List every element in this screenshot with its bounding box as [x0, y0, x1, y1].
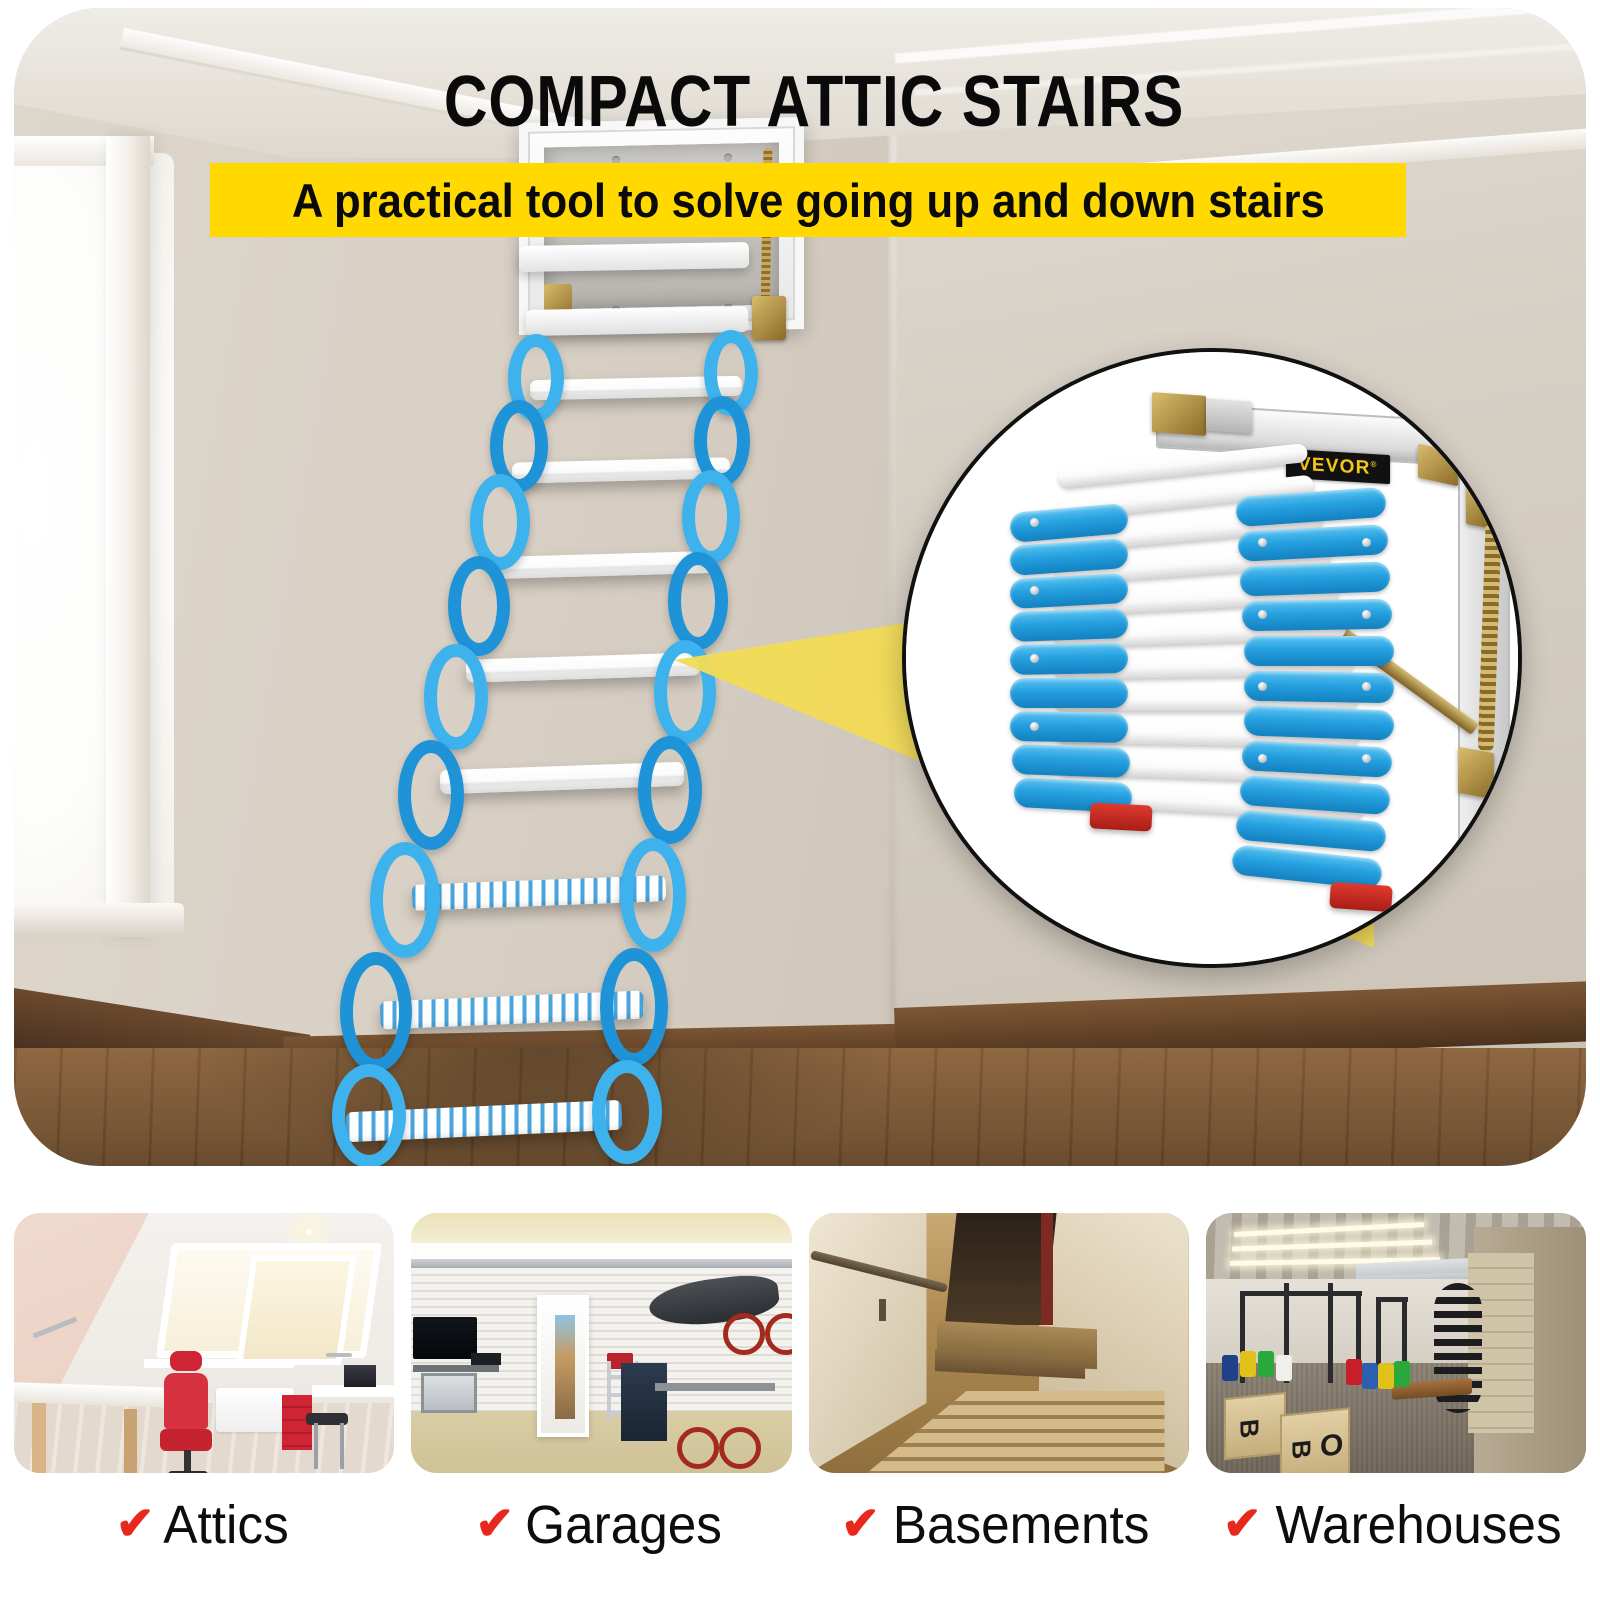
desk-leg: [32, 1403, 46, 1473]
ceiling-light: [302, 1225, 316, 1239]
check-icon: ✔: [116, 1500, 155, 1546]
ladder-link: [600, 948, 668, 1066]
skylight-window: [236, 1255, 356, 1365]
ladder-link: [340, 952, 412, 1072]
check-icon: ✔: [476, 1500, 515, 1546]
stool-leg: [340, 1423, 344, 1469]
application-thumbnails: B B O: [14, 1213, 1586, 1473]
ladder-link: [592, 1060, 662, 1164]
rubber-foot: [1089, 802, 1152, 831]
bike-wheel: [719, 1427, 761, 1469]
rivet: [1362, 610, 1371, 619]
plyo-box-letter: B: [1288, 1439, 1314, 1461]
hinge-bracket: [1458, 747, 1494, 799]
ladder-link: [448, 556, 510, 656]
trademark-symbol: ®: [1371, 460, 1378, 469]
floor-bicycle: [677, 1409, 761, 1471]
office-chair: [162, 1351, 214, 1471]
gym-rig-beam: [1376, 1297, 1408, 1302]
handrail-bracket: [879, 1299, 886, 1321]
chair-base: [168, 1471, 208, 1473]
folded-link: [1010, 608, 1129, 642]
subtitle-banner: A practical tool to solve going up and d…: [210, 163, 1406, 237]
label-text: Basements: [893, 1498, 1150, 1552]
wall-shelf: [413, 1365, 499, 1372]
garage-door-rail: [411, 1259, 791, 1268]
folded-link: [1244, 636, 1394, 666]
rivet: [1258, 610, 1267, 619]
plyo-box: B O: [1280, 1407, 1350, 1473]
label-warehouses: ✔ Warehouses: [1206, 1485, 1586, 1565]
hinge-bracket: [1418, 444, 1458, 487]
vevor-wordmark: VEVOR: [1298, 454, 1371, 479]
desk-leg: [124, 1409, 137, 1473]
hinge-plate: [1206, 398, 1252, 433]
label-attics: ✔ Attics: [14, 1485, 394, 1565]
check-icon: ✔: [841, 1500, 880, 1546]
rivet: [1030, 586, 1039, 595]
rivet: [1258, 538, 1267, 547]
folded-link: [1240, 561, 1391, 596]
hero-image: VEVOR®: [14, 8, 1586, 1166]
label-garages: ✔ Garages: [411, 1485, 791, 1565]
folded-link: [1010, 711, 1129, 743]
chair-post: [184, 1450, 191, 1473]
rivet: [1258, 754, 1267, 763]
weight-plate: [1346, 1359, 1362, 1385]
storage-rail: [655, 1383, 775, 1391]
folded-link: [1244, 705, 1395, 740]
ladder-link: [398, 740, 464, 850]
storage-cabinet: [421, 1373, 477, 1413]
stool-leg: [314, 1423, 318, 1469]
label-text: Warehouses: [1275, 1498, 1561, 1552]
stairwell-wall-left: [809, 1213, 927, 1473]
gym-rig-post: [1328, 1283, 1333, 1383]
check-icon: ✔: [1223, 1500, 1262, 1546]
product-infographic: VEVOR®: [0, 0, 1600, 1600]
plyo-box-letter: O: [1320, 1430, 1343, 1462]
wall-tv: [413, 1317, 477, 1359]
thumbnail-warehouses: B B O: [1206, 1213, 1586, 1473]
subtitle-text: A practical tool to solve going up and d…: [292, 173, 1325, 228]
garage-soffit: [411, 1213, 791, 1247]
door-jamb: [1041, 1213, 1053, 1325]
weight-plate: [1276, 1355, 1292, 1381]
ladder-link: [682, 470, 740, 564]
page-title: COMPACT ATTIC STAIRS: [142, 66, 1486, 138]
weight-plate: [1240, 1351, 1256, 1377]
rivet: [1030, 722, 1039, 731]
ladder-link: [332, 1064, 406, 1166]
application-labels: ✔ Attics ✔ Garages ✔ Basements ✔ Warehou…: [14, 1485, 1586, 1565]
thumbnail-garages: [411, 1213, 791, 1473]
plyo-box: B: [1224, 1392, 1286, 1461]
rivet: [1030, 654, 1039, 663]
thumbnail-basements: [809, 1213, 1189, 1473]
folded-link: [1010, 643, 1129, 675]
chair-backrest: [164, 1373, 208, 1429]
hinge-bracket: [1152, 392, 1206, 436]
weight-plate: [1258, 1351, 1274, 1377]
plyo-box-letter: B: [1236, 1418, 1262, 1440]
folded-link: [1012, 744, 1131, 778]
bike-wheel: [677, 1427, 719, 1469]
weight-plate: [1394, 1361, 1410, 1387]
gym-rig-beam: [1240, 1291, 1362, 1296]
ladder-link: [620, 838, 686, 952]
bike-wheel: [765, 1313, 791, 1355]
weight-plate: [1378, 1363, 1394, 1389]
bike-wheel: [723, 1313, 765, 1355]
ladder-link: [424, 644, 488, 750]
weight-plate: [1222, 1355, 1238, 1381]
ladder-link: [638, 736, 702, 844]
weight-plate: [1362, 1363, 1378, 1389]
inset-background: VEVOR®: [906, 352, 1518, 964]
equipment-panel: [621, 1363, 667, 1441]
door-glass: [555, 1315, 575, 1419]
entry-door: [537, 1295, 589, 1437]
hanging-bicycle: [723, 1295, 791, 1357]
folded-link: [1010, 678, 1128, 708]
rubber-foot: [1329, 882, 1393, 912]
thumbnail-attics: [14, 1213, 394, 1473]
desk-lamp: [326, 1353, 352, 1357]
chair-headrest: [170, 1351, 202, 1371]
rivet: [1258, 682, 1267, 691]
rivet: [1362, 538, 1371, 547]
label-text: Attics: [164, 1498, 289, 1552]
rivet: [1362, 754, 1371, 763]
chair-seat: [160, 1429, 212, 1451]
product-closeup-inset: VEVOR®: [902, 348, 1522, 968]
label-basements: ✔ Basements: [809, 1485, 1189, 1565]
ladder-link: [370, 842, 440, 958]
label-text: Garages: [525, 1498, 722, 1552]
rivet: [1362, 682, 1371, 691]
folded-link: [1009, 573, 1128, 609]
garage-fascia: [411, 1243, 791, 1259]
ladder-link: [668, 552, 728, 650]
rivet: [1030, 518, 1039, 527]
laptop: [344, 1365, 376, 1387]
tool-case: [471, 1353, 501, 1365]
